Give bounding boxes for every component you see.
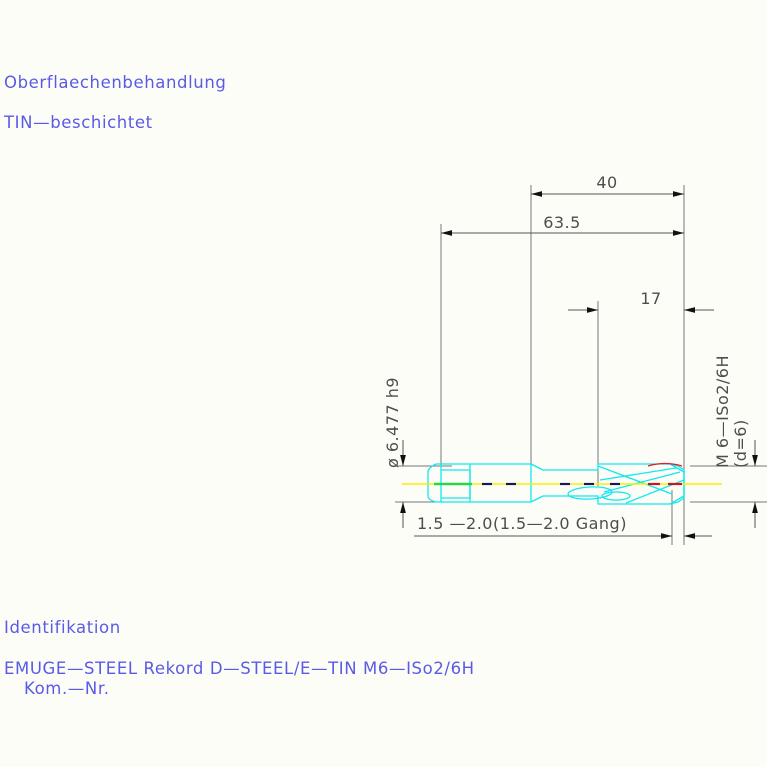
dimension-label-diameter: ø 6.477 h9 [383, 377, 402, 468]
surface-treatment-value: TIN—beschichtet [3, 113, 153, 132]
tool-flute-line-3 [604, 472, 680, 492]
dimension-overall-length: 63.5 [441, 213, 684, 233]
technical-drawing-svg: Oberflaechenbehandlung TIN—beschichtet I… [0, 0, 767, 767]
dimension-shank-diameter: ø 6.477 h9 [383, 377, 403, 528]
tool-flute-line-2 [600, 468, 676, 480]
dimension-label-17: 17 [640, 289, 661, 308]
dimension-label-63-5: 63.5 [543, 213, 581, 232]
dimension-label-thread-spec-1: M 6—ISo2/6H [713, 355, 732, 468]
dimension-shank-length: 40 [531, 173, 684, 194]
identification-line-1: EMUGE—STEEL Rekord D—STEEL/E—TIN M6—ISo2… [4, 659, 475, 678]
dimension-thread-length: 17 [568, 289, 714, 310]
dimension-chamfer-note: 1.5 —2.0(1.5—2.0 Gang) [414, 514, 712, 536]
drawing-canvas: Oberflaechenbehandlung TIN—beschichtet I… [0, 0, 767, 767]
dimension-label-chamfer: 1.5 —2.0(1.5—2.0 Gang) [417, 514, 627, 533]
surface-treatment-heading: Oberflaechenbehandlung [4, 73, 227, 92]
dimension-label-thread-spec-2: (d=6) [731, 419, 750, 468]
dimension-label-40: 40 [596, 173, 617, 192]
identification-line-2: Kom.—Nr. [24, 679, 110, 698]
identification-heading: Identifikation [4, 618, 121, 637]
